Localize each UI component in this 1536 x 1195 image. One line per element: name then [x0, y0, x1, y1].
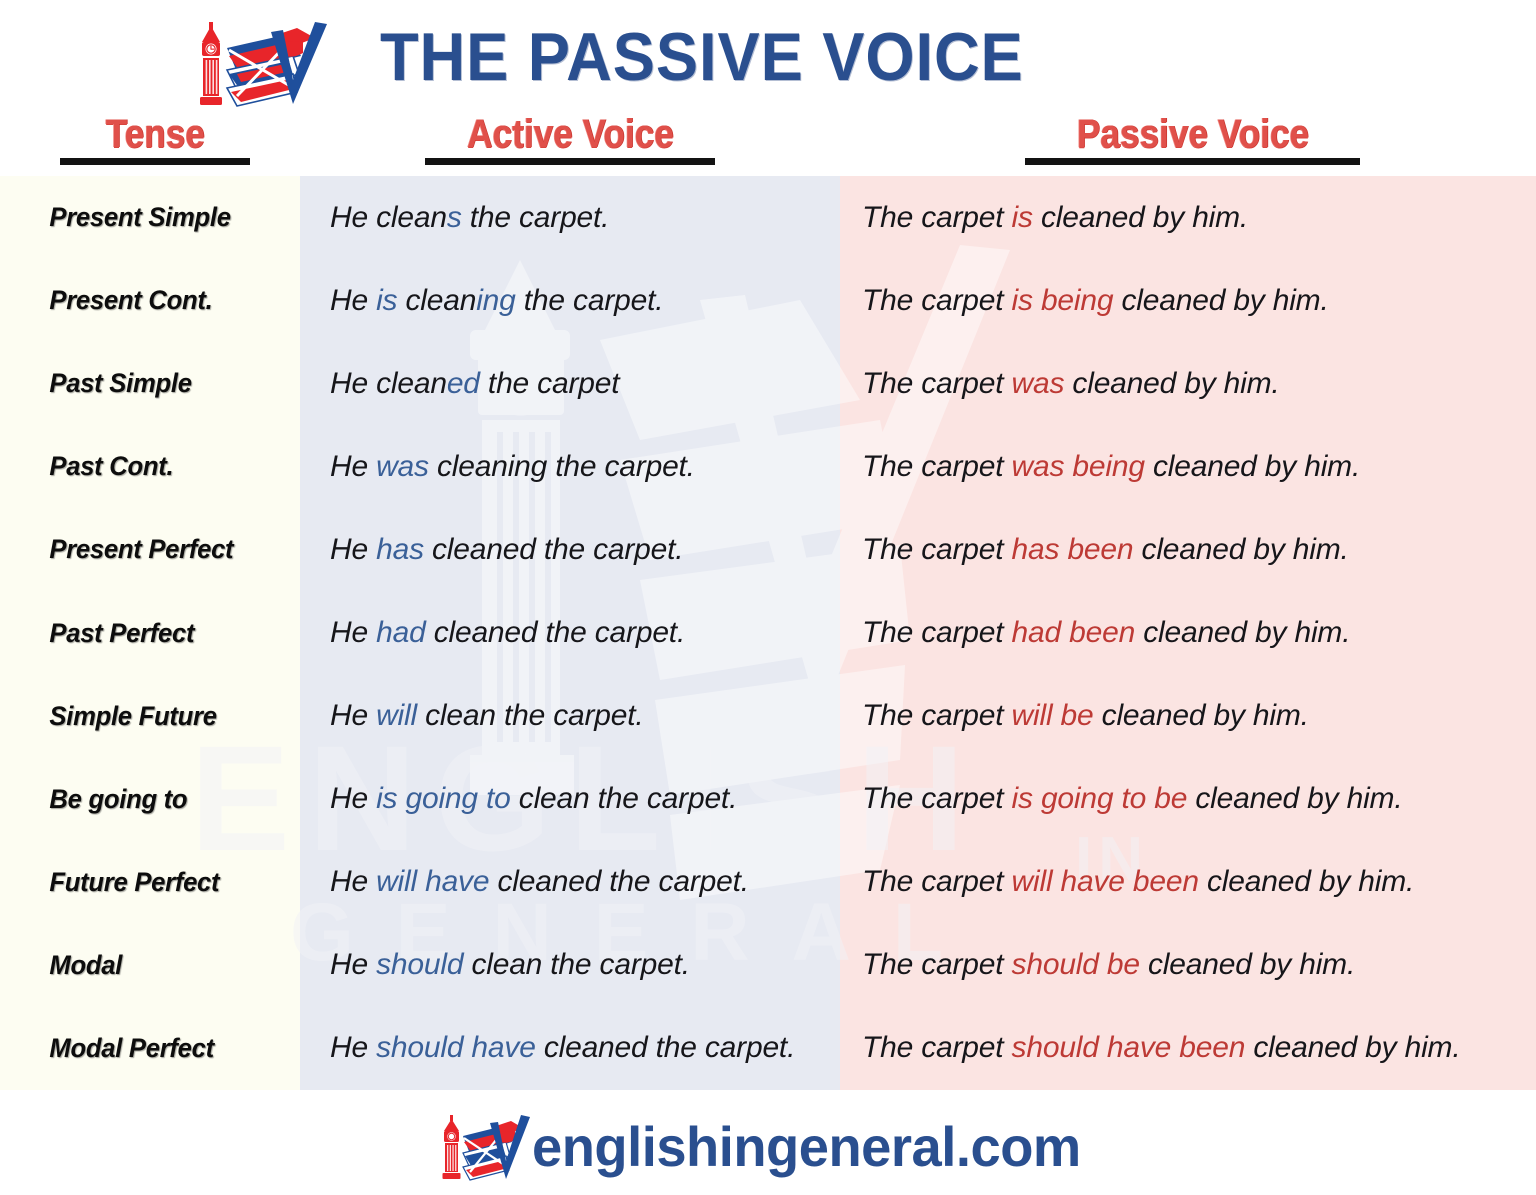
tense-label: Present Perfect [0, 534, 285, 565]
highlighted-auxiliary: is going to [376, 782, 511, 815]
highlighted-auxiliary: was [1012, 367, 1065, 400]
sentence-text: cleaned by him. [1064, 367, 1279, 400]
highlighted-auxiliary: should have [376, 1031, 536, 1064]
tense-label: Past Perfect [0, 618, 285, 649]
sentence-text: cleaned by him. [1094, 699, 1309, 732]
active-voice-sentence: He cleaned the carpet [330, 367, 619, 400]
column-header-tense: Tense [60, 112, 250, 165]
footer-website-label: englishingeneral.com [532, 1117, 1081, 1177]
page-title: THE PASSIVE VOICE [380, 18, 1024, 96]
passive-voice-sentence: The carpet will have been cleaned by him… [862, 865, 1414, 898]
passive-voice-cell: The carpet will be cleaned by him. [840, 699, 1536, 733]
table-row: ModalHe should clean the carpet.The carp… [0, 924, 1536, 1007]
table-row: Present SimpleHe cleans the carpet.The c… [0, 176, 1536, 259]
column-header-active: Active Voice [425, 112, 715, 165]
table-row: Past Cont.He was cleaning the carpet.The… [0, 425, 1536, 508]
page-header: THE PASSIVE VOICE [0, 0, 1536, 110]
sentence-text: cleaned by him. [1145, 450, 1360, 483]
passive-voice-sentence: The carpet has been cleaned by him. [862, 533, 1349, 566]
tense-label: Modal Perfect [0, 1033, 285, 1064]
sentence-text: cleaning the carpet. [429, 450, 695, 483]
table-row: Modal PerfectHe should have cleaned the … [0, 1007, 1536, 1090]
sentence-text: He [330, 1031, 376, 1064]
sentence-text: The carpet [862, 201, 1012, 234]
sentence-text: The carpet [862, 616, 1012, 649]
sentence-text: He clean [330, 201, 447, 234]
active-voice-sentence: He had cleaned the carpet. [330, 616, 685, 649]
highlighted-auxiliary: has [376, 533, 424, 566]
sentence-text: cleaned by him. [1245, 1031, 1460, 1064]
sentence-text: He [330, 699, 376, 732]
column-header-active-rule [425, 158, 715, 165]
passive-voice-sentence: The carpet had been cleaned by him. [862, 616, 1350, 649]
highlighted-auxiliary: has been [1012, 533, 1134, 566]
passive-voice-sentence: The carpet should have been cleaned by h… [862, 1031, 1460, 1064]
highlighted-auxiliary: had [376, 616, 425, 649]
tense-label: Past Cont. [0, 451, 285, 482]
column-header-tense-rule [60, 158, 250, 165]
tense-label: Be going to [0, 784, 285, 815]
big-ben-icon [200, 22, 222, 105]
table-row: Past PerfectHe had cleaned the carpet.Th… [0, 591, 1536, 674]
column-header-tense-label: Tense [105, 112, 204, 156]
sentence-text: the carpet [480, 367, 620, 400]
brand-logo-icon [193, 12, 333, 110]
passive-voice-sentence: The carpet should be cleaned by him. [862, 948, 1355, 981]
sentence-text: clean [397, 284, 476, 317]
tense-label: Past Simple [0, 368, 285, 399]
active-voice-sentence: He should have cleaned the carpet. [330, 1031, 795, 1064]
highlighted-auxiliary: is being [1012, 284, 1114, 317]
sentence-text: The carpet [862, 782, 1012, 815]
passive-voice-sentence: The carpet was being cleaned by him. [862, 450, 1360, 483]
active-voice-cell: He was cleaning the carpet. [300, 450, 840, 484]
active-voice-sentence: He has cleaned the carpet. [330, 533, 683, 566]
passive-voice-table: Present SimpleHe cleans the carpet.The c… [0, 176, 1536, 1090]
active-voice-cell: He cleans the carpet. [300, 201, 840, 235]
passive-voice-sentence: The carpet is going to be cleaned by him… [862, 782, 1402, 815]
tense-label: Simple Future [0, 701, 285, 732]
highlighted-auxiliary: is going to be [1012, 782, 1188, 815]
sentence-text: He [330, 782, 376, 815]
passive-voice-cell: The carpet was being cleaned by him. [840, 450, 1536, 484]
passive-voice-cell: The carpet is cleaned by him. [840, 201, 1536, 235]
sentence-text: cleaned by him. [1140, 948, 1355, 981]
highlighted-auxiliary: should be [1012, 948, 1140, 981]
highlighted-auxiliary: will be [1012, 699, 1094, 732]
highlighted-auxiliary: should [376, 948, 463, 981]
highlighted-auxiliary: is [1012, 201, 1033, 234]
tense-label: Present Cont. [0, 285, 285, 316]
sentence-text: The carpet [862, 699, 1012, 732]
sentence-text: cleaned by him. [1033, 201, 1248, 234]
sentence-text: The carpet [862, 865, 1012, 898]
sentence-text: He [330, 284, 376, 317]
active-voice-cell: He will have cleaned the carpet. [300, 865, 840, 899]
sentence-text: cleaned the carpet. [424, 533, 684, 566]
sentence-text: cleaned by him. [1133, 533, 1348, 566]
page-footer: englishingeneral.com [0, 1098, 1536, 1195]
sentence-text: clean the carpet. [463, 948, 690, 981]
sentence-text: He [330, 533, 376, 566]
sentence-text: He clean [330, 367, 447, 400]
passive-voice-cell: The carpet has been cleaned by him. [840, 533, 1536, 567]
sentence-text: cleaned by him. [1113, 284, 1328, 317]
column-header-passive-rule [1025, 158, 1360, 165]
column-header-active-label: Active Voice [467, 112, 674, 156]
passive-voice-cell: The carpet should have been cleaned by h… [840, 1031, 1536, 1065]
active-voice-sentence: He was cleaning the carpet. [330, 450, 695, 483]
sentence-text: cleaned the carpet. [536, 1031, 796, 1064]
active-voice-sentence: He will have cleaned the carpet. [330, 865, 749, 898]
active-voice-sentence: He is cleaning the carpet. [330, 284, 663, 317]
highlighted-auxiliary: should have been [1012, 1031, 1246, 1064]
sentence-text: The carpet [862, 284, 1012, 317]
highlighted-auxiliary: ed [447, 367, 480, 400]
sentence-text: The carpet [862, 367, 1012, 400]
brand-logo-footer-icon [438, 1109, 530, 1185]
passive-voice-sentence: The carpet will be cleaned by him. [862, 699, 1309, 732]
passive-voice-sentence: The carpet is cleaned by him. [862, 201, 1248, 234]
sentence-text: The carpet [862, 533, 1012, 566]
active-voice-sentence: He cleans the carpet. [330, 201, 609, 234]
sentence-text: the carpet. [516, 284, 664, 317]
passive-voice-cell: The carpet will have been cleaned by him… [840, 865, 1536, 899]
highlighted-auxiliary: was [376, 450, 429, 483]
tense-label: Future Perfect [0, 867, 285, 898]
active-voice-cell: He should clean the carpet. [300, 948, 840, 982]
sentence-text: cleaned the carpet. [426, 616, 686, 649]
sentence-text: cleaned by him. [1135, 616, 1350, 649]
active-voice-cell: He cleaned the carpet [300, 367, 840, 401]
sentence-text: He [330, 616, 376, 649]
active-voice-sentence: He will clean the carpet. [330, 699, 644, 732]
sentence-text: The carpet [862, 1031, 1012, 1064]
passive-voice-cell: The carpet is being cleaned by him. [840, 284, 1536, 318]
big-ben-icon [443, 1115, 461, 1179]
sentence-text: cleaned by him. [1199, 865, 1414, 898]
active-voice-cell: He is going to clean the carpet. [300, 782, 840, 816]
column-header-passive: Passive Voice [1025, 112, 1360, 165]
active-voice-sentence: He is going to clean the carpet. [330, 782, 737, 815]
highlighted-auxiliary: will have been [1012, 865, 1199, 898]
sentence-text: clean the carpet. [417, 699, 644, 732]
highlighted-auxiliary: was being [1012, 450, 1145, 483]
sentence-text: The carpet [862, 948, 1012, 981]
sentence-text: He [330, 865, 376, 898]
table-row: Present Cont.He is cleaning the carpet.T… [0, 259, 1536, 342]
passive-voice-cell: The carpet is going to be cleaned by him… [840, 782, 1536, 816]
table-row: Be going toHe is going to clean the carp… [0, 758, 1536, 841]
active-voice-cell: He should have cleaned the carpet. [300, 1031, 840, 1065]
sentence-text: clean the carpet. [511, 782, 738, 815]
passive-voice-cell: The carpet was cleaned by him. [840, 367, 1536, 401]
sentence-text: The carpet [862, 450, 1012, 483]
table-row: Future PerfectHe will have cleaned the c… [0, 841, 1536, 924]
passive-voice-sentence: The carpet was cleaned by him. [862, 367, 1280, 400]
tense-label: Present Simple [0, 202, 285, 233]
sentence-text: the carpet. [462, 201, 610, 234]
tense-label: Modal [0, 950, 285, 981]
active-voice-cell: He had cleaned the carpet. [300, 616, 840, 650]
passive-voice-sentence: The carpet is being cleaned by him. [862, 284, 1329, 317]
sentence-text: He [330, 450, 376, 483]
highlighted-auxiliary: ing [476, 284, 515, 317]
passive-voice-cell: The carpet should be cleaned by him. [840, 948, 1536, 982]
table-row: Simple FutureHe will clean the carpet.Th… [0, 675, 1536, 758]
highlighted-auxiliary: is [376, 284, 397, 317]
active-voice-cell: He will clean the carpet. [300, 699, 840, 733]
column-header-passive-label: Passive Voice [1076, 112, 1308, 156]
passive-voice-cell: The carpet had been cleaned by him. [840, 616, 1536, 650]
table-row: Past SimpleHe cleaned the carpetThe carp… [0, 342, 1536, 425]
active-voice-sentence: He should clean the carpet. [330, 948, 690, 981]
sentence-text: cleaned the carpet. [489, 865, 749, 898]
highlighted-auxiliary: will have [376, 865, 489, 898]
sentence-text: He [330, 948, 376, 981]
sentence-text: cleaned by him. [1187, 782, 1402, 815]
active-voice-cell: He has cleaned the carpet. [300, 533, 840, 567]
highlighted-auxiliary: s [447, 201, 462, 234]
table-row: Present PerfectHe has cleaned the carpet… [0, 508, 1536, 591]
active-voice-cell: He is cleaning the carpet. [300, 284, 840, 318]
highlighted-auxiliary: had been [1012, 616, 1136, 649]
highlighted-auxiliary: will [376, 699, 417, 732]
